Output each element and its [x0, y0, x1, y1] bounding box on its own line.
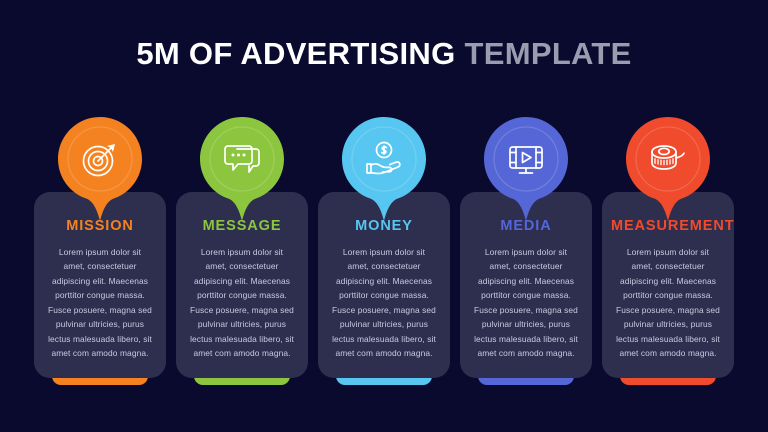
card-pin-marker[interactable]: [342, 117, 426, 221]
card-mission[interactable]: MISSION Lorem ipsum dolor sit amet, cons…: [34, 117, 166, 389]
card-pin-marker[interactable]: [58, 117, 142, 221]
card-body-text: Lorem ipsum dolor sit amet, consectetuer…: [43, 245, 157, 361]
target-icon: [58, 117, 142, 201]
video-monitor-icon: [484, 117, 568, 201]
card-body-text: Lorem ipsum dolor sit amet, consectetuer…: [327, 245, 441, 361]
card-body-text: Lorem ipsum dolor sit amet, consectetuer…: [611, 245, 725, 361]
card-money[interactable]: MONEY Lorem ipsum dolor sit amet, consec…: [318, 117, 450, 389]
card-body-text: Lorem ipsum dolor sit amet, consectetuer…: [469, 245, 583, 361]
card-pin-marker[interactable]: [200, 117, 284, 221]
card-body-text: Lorem ipsum dolor sit amet, consectetuer…: [185, 245, 299, 361]
card-message[interactable]: MESSAGE Lorem ipsum dolor sit amet, cons…: [176, 117, 308, 389]
cards-row: MISSION Lorem ipsum dolor sit amet, cons…: [34, 117, 734, 389]
card-media[interactable]: MEDIA Lorem ipsum dolor sit amet, consec…: [460, 117, 592, 389]
card-measurement[interactable]: MEASUREMENT Lorem ipsum dolor sit amet, …: [602, 117, 734, 389]
card-pin-marker[interactable]: [484, 117, 568, 221]
page-title-accent: TEMPLATE: [465, 36, 632, 71]
measuring-tape-icon: [626, 117, 710, 201]
card-pin-marker[interactable]: [626, 117, 710, 221]
page-title: 5M OF ADVERTISINGTEMPLATE: [0, 38, 768, 69]
hand-holding-coin-icon: [342, 117, 426, 201]
page-title-main: 5M OF ADVERTISING: [136, 36, 455, 71]
chat-bubbles-icon: [200, 117, 284, 201]
slide-canvas: 5M OF ADVERTISINGTEMPLATE MISSION Lorem …: [0, 0, 768, 432]
